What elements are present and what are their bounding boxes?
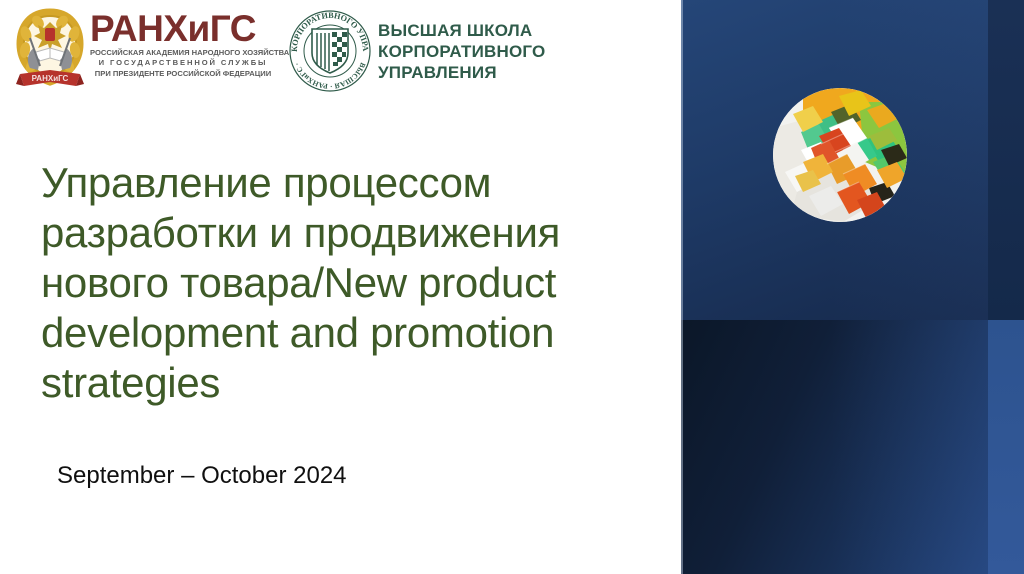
blue-gradient-panel [681, 0, 1024, 574]
ranepa-wordmark: РАНХиГС [90, 10, 276, 48]
panel-left-edge-highlight [681, 0, 683, 574]
panel-block-top-right-strip [988, 0, 1024, 320]
title-line-1: Управление процессом [41, 158, 661, 208]
title-line-5: strategies [41, 358, 661, 408]
title-line-4: development and promotion [41, 308, 661, 358]
hscm-name-group: ВЫСШАЯ ШКОЛА КОРПОРАТИВНОГО УПРАВЛЕНИЯ [378, 20, 545, 83]
ranepa-subtitle-line-3: ПРИ ПРЕЗИДЕНТЕ РОССИЙСКОЙ ФЕДЕРАЦИИ [90, 69, 276, 79]
slide-title: Управление процессом разработки и продви… [41, 158, 661, 408]
panel-block-bottom-right-strip [988, 320, 1024, 574]
colorful-isometric-cubes-circle-image [773, 88, 907, 222]
hscm-name-line-2: КОРПОРАТИВНОГО [378, 41, 545, 62]
ranepa-subtitle-line-1: РОССИЙСКАЯ АКАДЕМИЯ НАРОДНОГО ХОЗЯЙСТВА [90, 48, 276, 58]
ranepa-logo: РАНХиГС РАНХиГС РОССИЙСКАЯ АКАДЕМИЯ НАРО… [14, 8, 282, 94]
title-line-3: нового товара/New product [41, 258, 661, 308]
hscm-name-line-1: ВЫСШАЯ ШКОЛА [378, 20, 545, 41]
ranepa-subtitle-line-2: И ГОСУДАРСТВЕННОЙ СЛУЖБЫ [90, 58, 276, 68]
hscm-logo: ШКОЛА КОРПОРАТИВНОГО УПРАВЛЕНИЯ ВЫСШАЯ ·… [288, 6, 588, 96]
title-line-2: разработки и продвижения [41, 208, 661, 258]
ranepa-wordmark-group: РАНХиГС РОССИЙСКАЯ АКАДЕМИЯ НАРОДНОГО ХО… [90, 8, 276, 79]
ranepa-coat-of-arms-emblem: РАНХиГС [14, 8, 86, 94]
hscm-name-line-3: УПРАВЛЕНИЯ [378, 62, 545, 83]
panel-seam-bottom [831, 320, 988, 574]
corporate-management-school-seal: ШКОЛА КОРПОРАТИВНОГО УПРАВЛЕНИЯ ВЫСШАЯ ·… [288, 9, 372, 93]
presentation-slide: РАНХиГС РАНХиГС РОССИЙСКАЯ АКАДЕМИЯ НАРО… [0, 0, 1024, 574]
logo-band: РАНХиГС РАНХиГС РОССИЙСКАЯ АКАДЕМИЯ НАРО… [0, 0, 600, 98]
slide-subtitle-date: September – October 2024 [57, 461, 347, 491]
svg-text:РАНХиГС: РАНХиГС [32, 74, 69, 83]
